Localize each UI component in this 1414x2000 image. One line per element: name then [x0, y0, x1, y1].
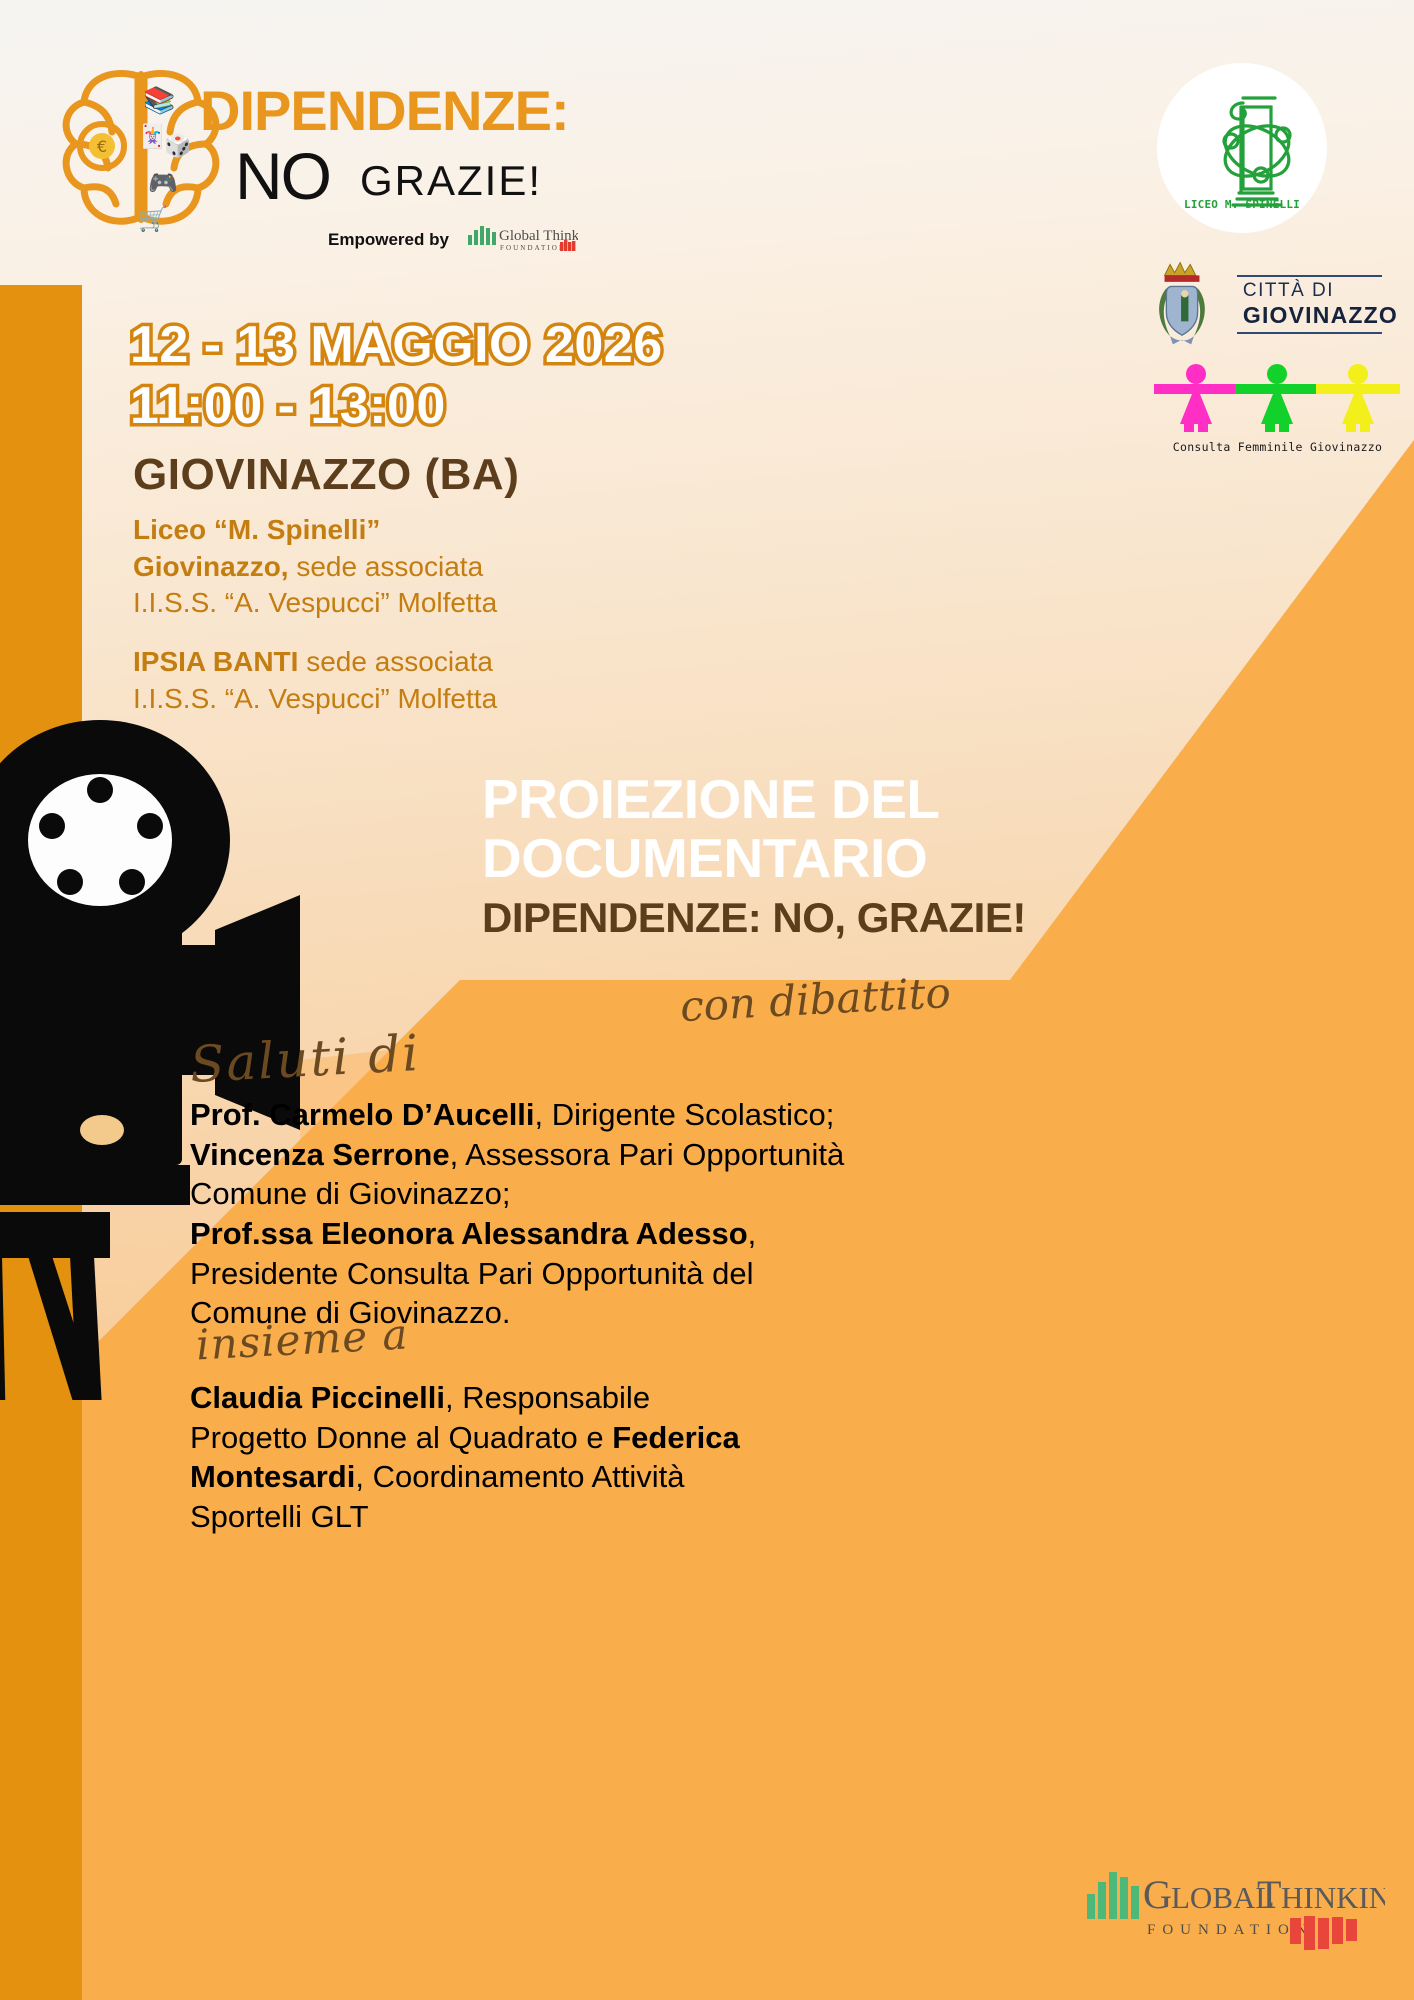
saluti-di-label: Saluti di [189, 1024, 422, 1094]
venue2-name: IPSIA BANTI [133, 646, 298, 677]
three-figures-icon [1150, 362, 1405, 436]
venue-gap [133, 622, 497, 644]
speaker-3-role: Presidente Consulta Pari Opportunità del [190, 1256, 754, 1291]
venue1-sede: sede associata [289, 551, 484, 582]
event-venues: Liceo “M. Spinelli” Giovinazzo, sede ass… [133, 512, 497, 717]
speaker-1-name: Prof. Carmelo D’Aucelli [190, 1097, 535, 1132]
global-thinking-foundation-logo: G LOBAL T HINKING FOUNDATION [1085, 1862, 1385, 1957]
brand-no: NO [235, 138, 330, 214]
speaker-row-3: Comune di Giovinazzo; [190, 1174, 990, 1214]
svg-text:T: T [1257, 1872, 1281, 1917]
svg-text:FOUNDATION: FOUNDATION [500, 244, 566, 252]
citta-line1: CITTÀ DI [1237, 277, 1398, 302]
speaker-row-2: Vincenza Serrone, Assessora Pari Opportu… [190, 1135, 990, 1175]
partner-1-role2: Progetto Donne al Quadrato e [190, 1420, 612, 1455]
venue1-name: Liceo “M. Spinelli” [133, 514, 380, 545]
partner-2-name2: Montesardi [190, 1459, 355, 1494]
speaker-2-role-cont: Comune di Giovinazzo; [190, 1176, 511, 1211]
speaker-row-1: Prof. Carmelo D’Aucelli, Dirigente Scola… [190, 1095, 990, 1135]
citta-rule-bottom [1237, 332, 1382, 334]
partner-1-role: , Responsabile [445, 1380, 650, 1415]
speaker-2-role: , Assessora Pari Opportunità [450, 1137, 845, 1172]
books-money-icon: 📚 [143, 87, 175, 113]
svg-text:FOUNDATION: FOUNDATION [1147, 1922, 1314, 1938]
speaker-1-role: , Dirigente Scolastico; [535, 1097, 835, 1132]
speaker-row-5: Presidente Consulta Pari Opportunità del [190, 1254, 990, 1294]
global-thinking-logo-small: Global Thinking FOUNDATION [468, 223, 578, 253]
speakers-list: Prof. Carmelo D’Aucelli, Dirigente Scola… [190, 1095, 990, 1333]
poster-root: € 📚 🃏 🎲 🎮 🛒 DIPENDENZE: NO GRAZIE! Empow… [0, 0, 1414, 2000]
shopping-cart-icon: 🛒 [138, 208, 168, 232]
svg-text:G: G [1143, 1872, 1172, 1917]
brand-title: DIPENDENZE: [200, 78, 569, 143]
empowered-by-label: Empowered by [328, 230, 449, 250]
svg-text:€: € [97, 137, 107, 156]
citta-text-block: CITTÀ DI GIOVINAZZO [1237, 273, 1398, 334]
con-dibattito-label: con dibattito [679, 968, 952, 1031]
partner-row-2: Progetto Donne al Quadrato e Federica [190, 1418, 890, 1458]
venue1-institute: I.I.S.S. “A. Vespucci” Molfetta [133, 587, 497, 618]
partner-row-3: Montesardi, Coordinamento Attività [190, 1457, 890, 1497]
brand-lockup: € 📚 🃏 🎲 🎮 🛒 DIPENDENZE: NO GRAZIE! Empow… [40, 30, 600, 245]
spinelli-label: LICEO M. SPINELLI [1157, 198, 1327, 211]
logo-consulta-femminile: Consulta Femminile Giovinazzo [1150, 362, 1405, 452]
event-datetime: 12 - 13 MAGGIO 2026 11:00 - 13:00 [130, 315, 663, 438]
event-dates: 12 - 13 MAGGIO 2026 [130, 315, 663, 376]
dice-icon: 🎲 [164, 135, 191, 157]
event-times: 11:00 - 13:00 [130, 376, 663, 437]
main-headline: PROIEZIONE DEL DOCUMENTARIO DIPENDENZE: … [482, 770, 1082, 942]
partner-row-4: Sportelli GLT [190, 1497, 890, 1537]
gtf-logo-icon: G LOBAL T HINKING FOUNDATION [1085, 1862, 1385, 1952]
giovinazzo-coat-of-arms-icon [1148, 253, 1229, 353]
venue2-sede: sede associata [298, 646, 493, 677]
venue-1: Liceo “M. Spinelli” Giovinazzo, sede ass… [133, 512, 497, 622]
svg-text:HINKING: HINKING [1281, 1880, 1385, 1915]
consulta-label: Consulta Femminile Giovinazzo [1150, 440, 1405, 454]
partner-2-name: Federica [612, 1420, 740, 1455]
speaker-row-4: Prof.ssa Eleonora Alessandra Adesso, [190, 1214, 990, 1254]
event-city: GIOVINAZZO (BA) [133, 450, 519, 500]
venue1-city: Giovinazzo, [133, 551, 289, 582]
logo-citta-giovinazzo: CITTÀ DI GIOVINAZZO [1148, 252, 1398, 354]
logo-liceo-spinelli: LICEO M. SPINELLI [1157, 63, 1327, 233]
headline-subtitle: DIPENDENZE: NO, GRAZIE! [482, 894, 1082, 942]
speaker-3-comma: , [748, 1216, 757, 1251]
citta-line2: GIOVINAZZO [1237, 302, 1398, 332]
partner-2-role2: Sportelli GLT [190, 1499, 369, 1534]
brand-grazie: GRAZIE! [360, 157, 542, 205]
venue-2: IPSIA BANTI sede associata I.I.S.S. “A. … [133, 644, 497, 717]
venue2-institute: I.I.S.S. “A. Vespucci” Molfetta [133, 683, 497, 714]
headline-line2: DOCUMENTARIO [482, 829, 1082, 888]
cards-chips-icon: 🃏 [138, 125, 167, 148]
speaker-3-name: Prof.ssa Eleonora Alessandra Adesso [190, 1216, 748, 1251]
headline-line1: PROIEZIONE DEL [482, 770, 1082, 829]
partner-2-role: , Coordinamento Attività [355, 1459, 684, 1494]
partner-row-1: Claudia Piccinelli, Responsabile [190, 1378, 890, 1418]
partners-list: Claudia Piccinelli, Responsabile Progett… [190, 1378, 890, 1537]
gamepad-icon: 🎮 [148, 172, 178, 196]
speaker-2-name: Vincenza Serrone [190, 1137, 450, 1172]
partner-1-name: Claudia Piccinelli [190, 1380, 445, 1415]
